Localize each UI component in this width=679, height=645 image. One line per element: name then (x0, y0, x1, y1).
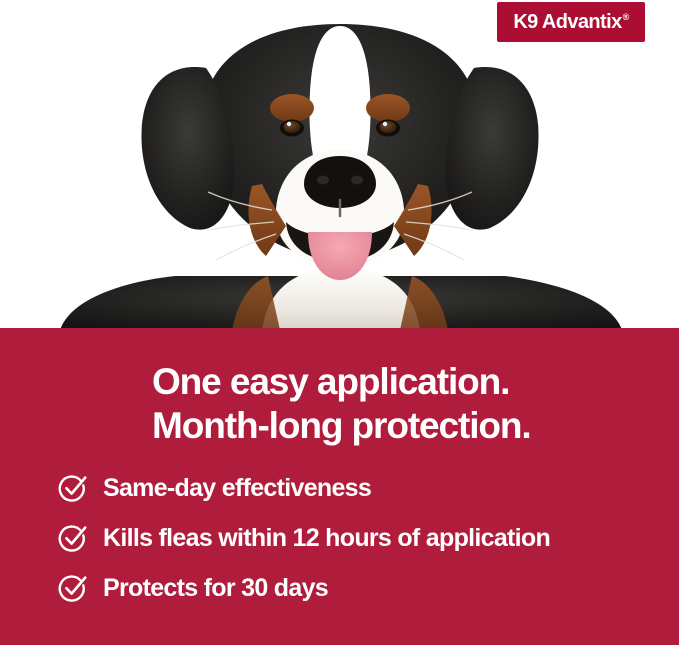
benefit-label: Same-day effectiveness (103, 476, 371, 501)
benefit-item: Same-day effectiveness (58, 470, 550, 506)
benefit-item: Protects for 30 days (58, 570, 550, 606)
check-circle-icon (58, 523, 88, 553)
dog-photo (0, 0, 679, 330)
hero-photo-area: K9 Advantix® (0, 0, 679, 330)
brand-logo: K9 Advantix® (497, 2, 645, 42)
benefit-label: Kills fleas within 12 hours of applicati… (103, 526, 550, 551)
check-circle-icon (58, 473, 88, 503)
headline-line-2: Month-long protection. (152, 404, 531, 448)
headline: One easy application. Month-long protect… (152, 360, 531, 448)
check-circle-icon (58, 573, 88, 603)
benefit-list: Same-day effectiveness Kills fleas withi… (58, 470, 550, 606)
product-ad-card: K9 Advantix® One easy application. Month… (0, 0, 679, 645)
headline-line-1: One easy application. (152, 360, 531, 404)
brand-logo-text: K9 Advantix® (513, 12, 628, 32)
benefit-item: Kills fleas within 12 hours of applicati… (58, 520, 550, 556)
benefit-label: Protects for 30 days (103, 576, 328, 601)
registered-trademark-mark: ® (623, 12, 629, 22)
